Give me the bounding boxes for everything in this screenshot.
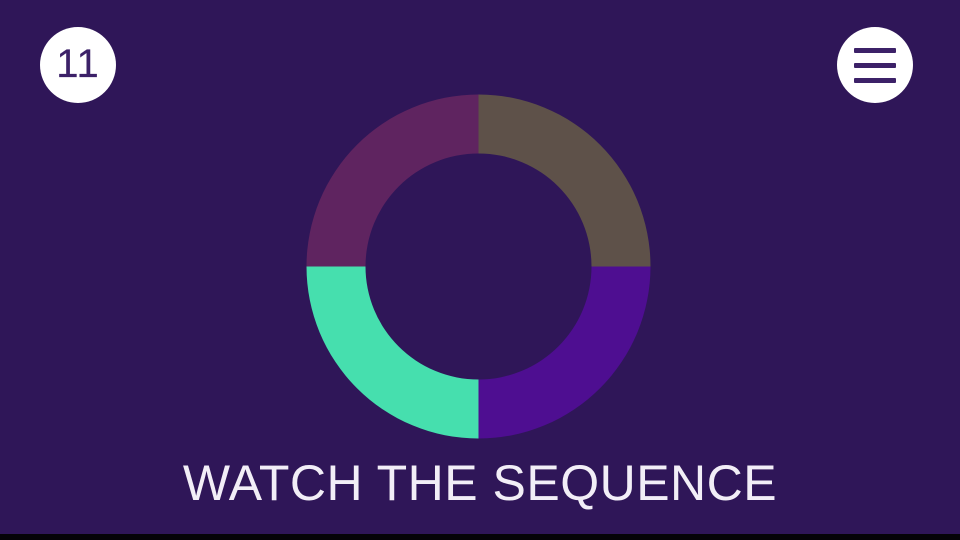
menu-bar-bottom [854, 78, 896, 83]
donut-segment-bottom-left[interactable] [307, 267, 479, 439]
donut-segment-top-left[interactable] [307, 95, 479, 267]
game-screen: 11 WATCH THE SEQUENCE [0, 0, 960, 540]
bottom-letterbox-bar [0, 534, 960, 540]
hamburger-menu-icon[interactable] [837, 27, 913, 103]
instruction-label: WATCH THE SEQUENCE [0, 458, 960, 508]
menu-bar-top [854, 48, 896, 53]
round-counter-value: 11 [56, 44, 100, 84]
donut-segment-top-right[interactable] [479, 95, 651, 267]
donut-segment-bottom-right[interactable] [479, 267, 651, 439]
menu-bar-middle [854, 63, 896, 68]
sequence-donut [306, 94, 651, 439]
round-counter-badge: 11 [40, 27, 116, 103]
